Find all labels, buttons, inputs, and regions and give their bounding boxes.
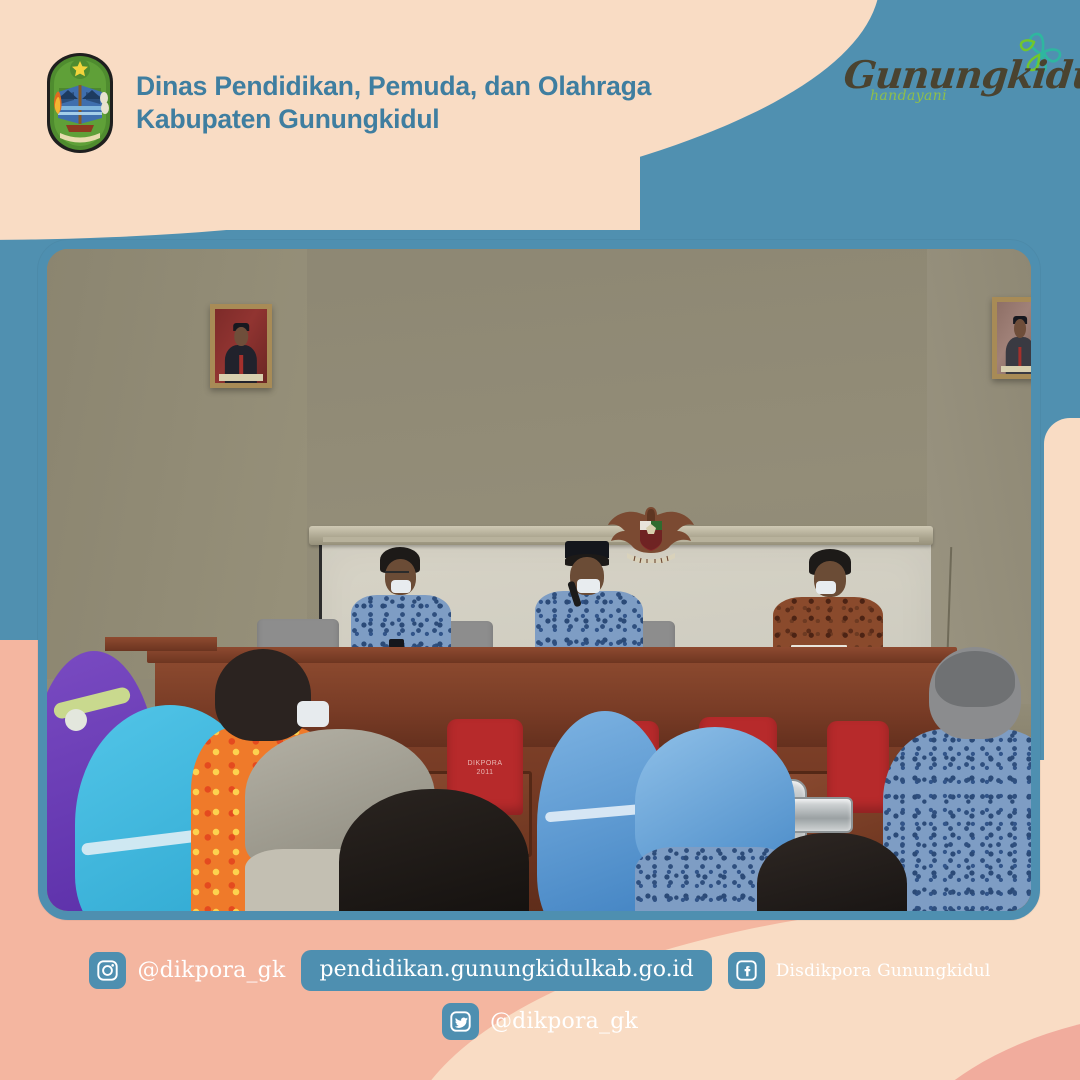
header-title-line2: Kabupaten Gunungkidul <box>136 103 651 136</box>
facebook-icon <box>728 952 765 989</box>
footer-row-primary: @dikpora_gk pendidikan.gunungkidulkab.go… <box>0 950 1080 991</box>
attendee-back-row-right <box>757 833 907 911</box>
facebook-page-name: Disdikpora Gunungkidul <box>776 961 991 981</box>
vice-president-portrait <box>992 297 1031 379</box>
footer-social-links: @dikpora_gk pendidikan.gunungkidulkab.go… <box>0 950 1080 1040</box>
header-title: Dinas Pendidikan, Pemuda, dan Olahraga K… <box>136 70 651 136</box>
attendee-dark-hair-center <box>339 789 529 911</box>
empty-chair-arm <box>789 797 853 833</box>
twitter-handle: @dikpora_gk <box>490 1009 638 1034</box>
social-media-poster: Dinas Pendidikan, Pemuda, dan Olahraga K… <box>0 0 1080 1080</box>
header-title-line1: Dinas Pendidikan, Pemuda, dan Olahraga <box>136 70 651 103</box>
president-portrait <box>210 304 272 388</box>
chair-label-1: DIKPORA 2011 <box>467 759 502 777</box>
twitter-icon <box>442 1003 479 1040</box>
instagram-icon <box>89 952 126 989</box>
meeting-photograph: DIKPORA 2011 DIKPORA 2011 <box>38 240 1040 920</box>
facebook-link[interactable]: Disdikpora Gunungkidul <box>728 952 991 989</box>
header: Dinas Pendidikan, Pemuda, dan Olahraga K… <box>44 52 651 154</box>
website-url-pill[interactable]: pendidikan.gunungkidulkab.go.id <box>301 950 711 991</box>
garuda-pancasila-emblem <box>605 501 697 563</box>
gunungkidul-brand-logo: Gunungkidul handayani <box>844 30 1064 116</box>
instagram-link[interactable]: @dikpora_gk <box>89 952 285 989</box>
instagram-handle: @dikpora_gk <box>137 958 285 983</box>
footer-row-secondary: @dikpora_gk <box>0 1003 1080 1040</box>
twitter-link[interactable]: @dikpora_gk <box>442 1003 638 1040</box>
brand-tagline: handayani <box>870 88 947 104</box>
gunungkidul-regency-crest-icon <box>44 52 116 154</box>
